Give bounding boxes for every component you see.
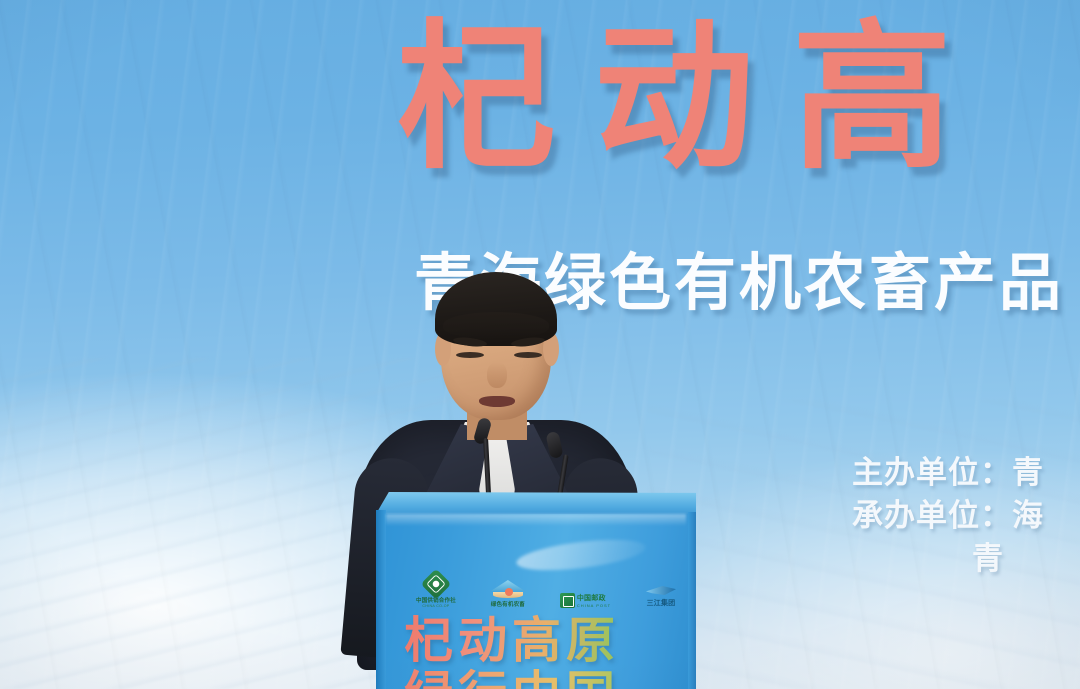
logo-quatrefoil-en: CHINA CO-OP bbox=[416, 604, 456, 608]
banner-credits: 主办单位：青 承办单位：海 青 bbox=[852, 452, 1044, 581]
credit-line-organizer: 主办单位：青 bbox=[852, 452, 1044, 495]
press-conference-scene: 杞动高 青海绿色有机农畜产品 主办单位：青 承办单位：海 青 bbox=[0, 0, 1080, 689]
speaker-eye-right bbox=[514, 352, 542, 358]
podium-title-line1: 杞动高原 bbox=[404, 614, 674, 668]
logo-landscape-cn: 绿色有机农畜 bbox=[491, 600, 525, 608]
logo-quatrefoil: 中国供销合作社 CHINA CO-OP bbox=[416, 573, 456, 608]
speaker-eye-left bbox=[456, 352, 484, 358]
mountain-sun-icon bbox=[491, 579, 525, 599]
speaker-hair bbox=[435, 272, 557, 346]
podium-logo-strip: 中国供销合作社 CHINA CO-OP 绿色有机农畜 中国邮政 CHINA PO… bbox=[416, 562, 676, 608]
logo-sanjiang-cn: 三江集团 bbox=[646, 598, 676, 608]
china-post-icon bbox=[560, 593, 575, 608]
podium-edge-right bbox=[688, 512, 696, 689]
podium-top-surface bbox=[376, 492, 696, 514]
logo-landscape: 绿色有机农畜 bbox=[491, 579, 525, 608]
quatrefoil-icon bbox=[420, 568, 451, 599]
podium-edge-left bbox=[376, 510, 386, 689]
credit-line-extra: 青 bbox=[852, 538, 1044, 581]
logo-post-cn: 中国邮政 bbox=[577, 593, 611, 603]
credit-line-host: 承办单位：海 bbox=[852, 495, 1044, 538]
banner-headline: 杞动高 bbox=[396, 8, 990, 188]
bird-swoosh-icon bbox=[646, 583, 676, 597]
podium: 中国供销合作社 CHINA CO-OP 绿色有机农畜 中国邮政 CHINA PO… bbox=[376, 492, 696, 689]
podium-front-title: 杞动高原 绿行中国 bbox=[404, 614, 674, 689]
logo-china-post: 中国邮政 CHINA POST bbox=[560, 592, 611, 608]
speaker-nose bbox=[487, 362, 507, 388]
logo-post-en: CHINA POST bbox=[577, 603, 611, 608]
speaker-mouth bbox=[479, 396, 515, 407]
podium-highlight-top bbox=[386, 514, 686, 526]
podium-title-line2: 绿行中国 bbox=[404, 668, 674, 689]
logo-sanjiang: 三江集团 bbox=[646, 583, 676, 608]
